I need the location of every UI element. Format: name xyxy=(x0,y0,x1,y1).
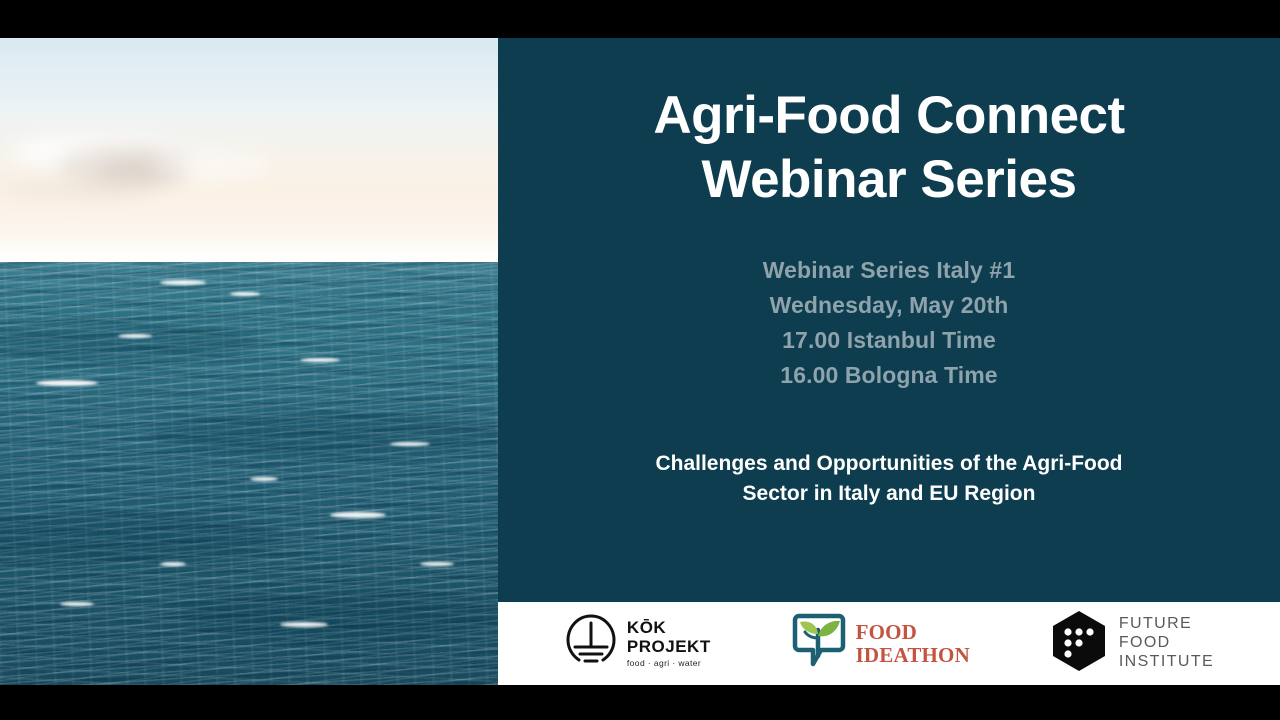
event-details: Webinar Series Italy #1 Wednesday, May 2… xyxy=(498,253,1280,393)
leaf-speech-bubble-icon xyxy=(791,612,847,675)
logo-future-food-institute: FUTURE FOOD INSTITUTE xyxy=(1050,610,1214,677)
sea-surface xyxy=(0,262,498,685)
swell-shadow xyxy=(180,592,498,640)
ideathon-line-2: IDEATHON xyxy=(856,644,970,666)
foam-crest xyxy=(36,380,98,386)
ffi-line-2: FOOD xyxy=(1119,634,1214,653)
ideathon-line-1: FOOD xyxy=(856,621,970,643)
logo-food-ideathon: FOOD IDEATHON xyxy=(791,612,970,675)
slide-stage: Agri-Food Connect Webinar Series Webinar… xyxy=(0,0,1280,720)
cloud-shape xyxy=(150,150,270,180)
sponsor-logo-bar: KŌK PROJEKT food · agri · water FOOD IDE… xyxy=(498,602,1280,685)
foam-crest xyxy=(420,562,454,566)
cloud-shape xyxy=(0,180,150,200)
event-time-istanbul: 17.00 Istanbul Time xyxy=(498,323,1280,358)
session-topic: Challenges and Opportunities of the Agri… xyxy=(498,449,1280,510)
swell-shadow xyxy=(150,412,498,458)
foam-crest xyxy=(230,292,260,296)
letterbox-bar-bottom xyxy=(0,685,1280,720)
page-title: Agri-Food Connect Webinar Series xyxy=(498,84,1280,211)
title-line-1: Agri-Food Connect xyxy=(498,84,1280,148)
foam-crest xyxy=(250,477,278,481)
food-ideathon-wordmark: FOOD IDEATHON xyxy=(856,621,970,666)
foam-crest xyxy=(280,622,328,627)
topic-line-1: Challenges and Opportunities of the Agri… xyxy=(544,449,1234,479)
kok-line-2: PROJEKT xyxy=(627,638,711,655)
foam-crest xyxy=(118,334,152,338)
hexagon-dots-icon xyxy=(1050,610,1108,677)
ground-circle-icon xyxy=(564,613,618,674)
letterbox-bar-top xyxy=(0,0,1280,38)
foam-crest xyxy=(160,280,206,285)
ffi-line-3: INSTITUTE xyxy=(1119,653,1214,672)
ocean-photo xyxy=(0,38,498,685)
event-series-label: Webinar Series Italy #1 xyxy=(498,253,1280,288)
kok-line-1: KŌK xyxy=(627,619,711,636)
ffi-line-1: FUTURE xyxy=(1119,615,1214,634)
foam-crest xyxy=(300,358,340,362)
sky-gradient xyxy=(0,38,498,262)
foam-crest xyxy=(160,562,186,566)
kok-tagline: food · agri · water xyxy=(627,659,711,668)
future-food-institute-wordmark: FUTURE FOOD INSTITUTE xyxy=(1119,615,1214,672)
event-time-bologna: 16.00 Bologna Time xyxy=(498,358,1280,393)
kok-projekt-wordmark: KŌK PROJEKT food · agri · water xyxy=(627,619,711,668)
foam-crest xyxy=(60,602,94,606)
foam-crest xyxy=(330,512,386,518)
event-date-label: Wednesday, May 20th xyxy=(498,288,1280,323)
foam-crest xyxy=(390,442,430,446)
topic-line-2: Sector in Italy and EU Region xyxy=(544,479,1234,509)
text-panel: Agri-Food Connect Webinar Series Webinar… xyxy=(498,38,1280,685)
title-line-2: Webinar Series xyxy=(498,148,1280,212)
content-frame: Agri-Food Connect Webinar Series Webinar… xyxy=(0,38,1280,685)
logo-kok-projekt: KŌK PROJEKT food · agri · water xyxy=(564,613,711,674)
